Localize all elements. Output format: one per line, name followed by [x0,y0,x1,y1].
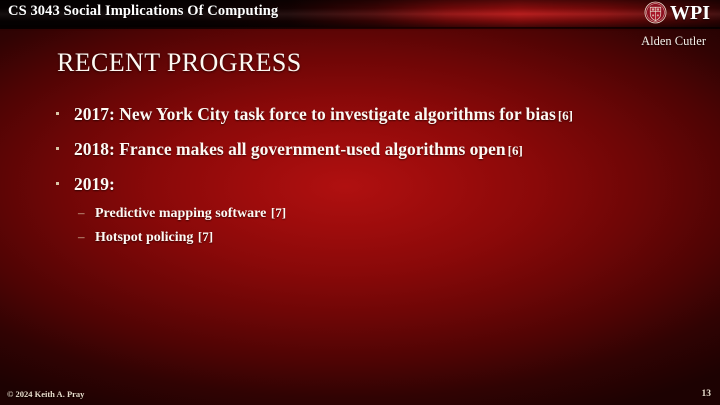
bullet-label: 2017: New York City task force to invest… [74,104,556,124]
footer-copyright: © 2024 Keith A. Pray [7,389,84,399]
bullet-text: 2017: New York City task force to invest… [74,104,573,125]
slide-title: RECENT PROGRESS [57,48,302,78]
sub-bullet-item: – Predictive mapping software [7] [78,205,696,222]
citation-ref: [7] [198,229,213,244]
bullet-label: 2019: [74,174,115,194]
dash-bullet-icon: – [78,206,95,219]
presentation-slide: CS 3043 Social Implications Of Computing… [0,0,720,405]
sub-bullet-text: Hotspot policing [7] [95,229,213,246]
slide-page-number: 13 [702,389,712,399]
sub-bullet-list: – Predictive mapping software [7] – Hots… [56,205,696,246]
bullet-text: 2018: France makes all government-used a… [74,139,523,160]
bullet-text: 2019: [74,174,115,195]
square-bullet-icon [56,104,74,122]
square-bullet-icon [56,174,74,192]
sub-bullet-label: Predictive mapping software [95,206,266,221]
wpi-seal-icon [644,1,667,24]
header-band-underline [0,27,720,29]
citation-ref: [6] [558,108,573,123]
bullet-label: 2018: France makes all government-used a… [74,139,506,159]
slide-body: 2017: New York City task force to invest… [56,104,696,253]
bullet-item: 2017: New York City task force to invest… [56,104,696,125]
sub-bullet-label: Hotspot policing [95,230,193,245]
square-bullet-icon [56,139,74,157]
course-title: CS 3043 Social Implications Of Computing [8,3,278,20]
wpi-logo: WPI [644,1,710,24]
dash-bullet-icon: – [78,230,95,243]
wpi-logo-text: WPI [670,3,710,23]
citation-ref: [6] [508,143,523,158]
presenter-name: Alden Cutler [641,34,706,49]
sub-bullet-item: – Hotspot policing [7] [78,229,696,246]
bullet-item: 2019: [56,174,696,195]
sub-bullet-text: Predictive mapping software [7] [95,205,286,222]
bullet-item: 2018: France makes all government-used a… [56,139,696,160]
citation-ref: [7] [271,205,286,220]
